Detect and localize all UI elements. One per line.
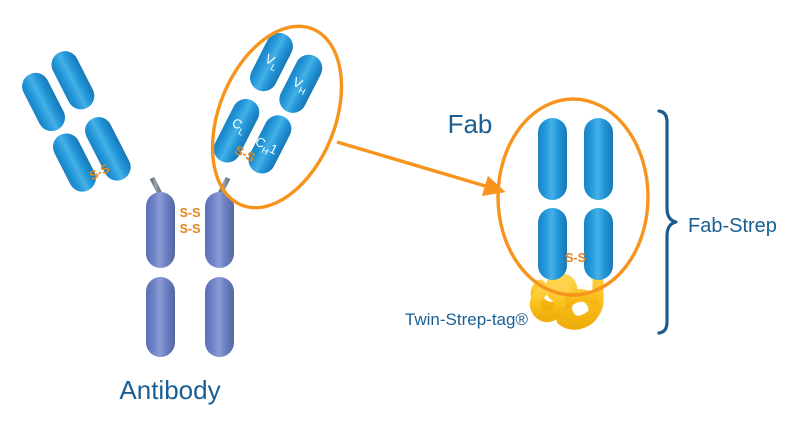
domain-ch3-left	[146, 277, 175, 357]
figure-canvas: S-S S-S VL VH CL	[0, 0, 800, 433]
diagram-svg: S-S S-S VL VH CL	[0, 0, 800, 433]
fabstrep-domain-vl	[538, 118, 567, 200]
antibody-left-arm: S-S	[15, 47, 136, 202]
antibody-right-arm: S-S VL VH CL CH1	[209, 28, 330, 183]
disulfide-fab-strep: S-S	[565, 251, 586, 265]
antibody-fc-region: S-S S-S	[146, 178, 234, 357]
fabstrep-domain-vh	[584, 118, 613, 200]
disulfide-hinge-upper: S-S	[180, 206, 201, 220]
antibody-molecule: S-S S-S VL VH CL	[15, 28, 330, 357]
disulfide-hinge-lower: S-S	[180, 222, 201, 236]
fab-strep-curly-brace	[659, 111, 676, 333]
domain-ch2-left	[146, 192, 175, 268]
fabstrep-domain-ch1	[584, 208, 613, 280]
domain-ch2-right	[205, 192, 234, 268]
zoom-arrow	[337, 142, 492, 188]
domain-ch3-right	[205, 277, 234, 357]
label-fab-strep: Fab-Strep	[688, 215, 777, 237]
fabstrep-domain-cl	[538, 208, 567, 280]
linker-hinge-left	[152, 178, 160, 194]
page-title-antibody: Antibody	[119, 375, 220, 405]
label-twin-strep-tag: Twin-Strep-tag®	[405, 310, 529, 329]
label-fab: Fab	[448, 109, 493, 139]
